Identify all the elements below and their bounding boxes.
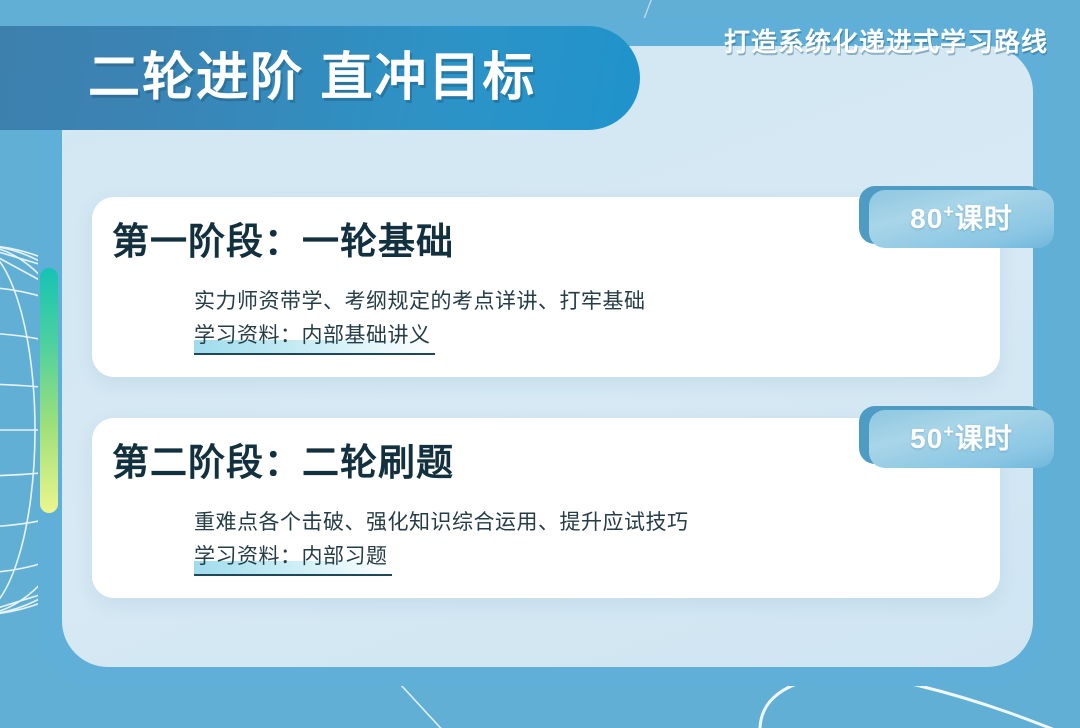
badge-label: 80+课时 [910,205,1013,233]
badge-body: 80+课时 [869,190,1054,248]
stage-body: 实力师资带学、考纲规定的考点详讲、打牢基础 学习资料：内部基础讲义 [194,285,646,355]
stage-title: 第一阶段：一轮基础 [112,223,454,260]
badge-body: 50+课时 [869,410,1054,468]
stage-detail: 重难点各个击破、强化知识综合运用、提升应试技巧 [194,506,689,540]
badge-unit: 课时 [955,203,1013,234]
badge-label: 50+课时 [910,425,1013,453]
stage-material: 学习资料：内部基础讲义 [194,319,435,355]
badge-number: 80 [910,203,943,234]
poster-root: 打造系统化递进式学习路线 二轮进阶 直冲目标 第一阶段：一轮基础 实力师资带学、… [0,0,1080,728]
hours-badge: 50+课时 [859,406,1054,468]
stage-body: 重难点各个击破、强化知识综合运用、提升应试技巧 学习资料：内部习题 [194,506,689,576]
hours-badge: 80+课时 [859,186,1054,248]
badge-number: 50 [910,423,943,454]
title-banner: 二轮进阶 直冲目标 [0,26,640,130]
stage-material-text: 学习资料：内部习题 [194,545,388,568]
badge-unit: 课时 [955,423,1013,454]
badge-plus-icon: + [943,202,955,222]
stage-material: 学习资料：内部习题 [194,540,392,576]
badge-plus-icon: + [943,422,955,442]
stage-material-text: 学习资料：内部基础讲义 [194,324,431,347]
accent-bar [40,268,58,513]
stage-title: 第二阶段：二轮刷题 [112,444,454,481]
kicker-text: 打造系统化递进式学习路线 [724,22,1048,59]
page-title: 二轮进阶 直冲目标 [88,52,536,104]
stage-detail: 实力师资带学、考纲规定的考点详讲、打牢基础 [194,285,646,319]
